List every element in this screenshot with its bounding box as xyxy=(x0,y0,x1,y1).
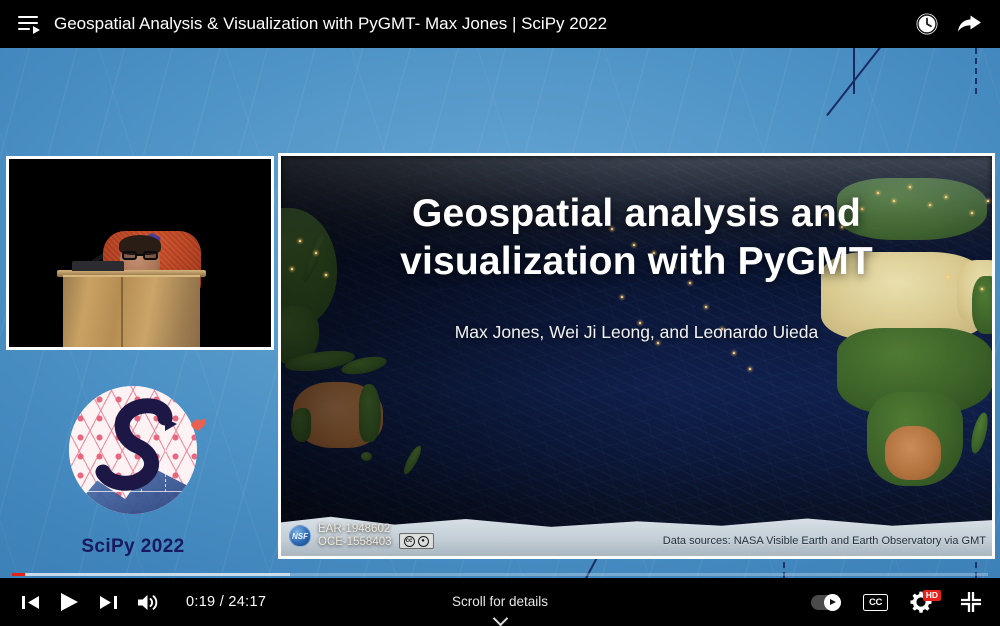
autoplay-toggle[interactable] xyxy=(811,595,841,610)
presentation-slide[interactable]: Geospatial analysis and visualization wi… xyxy=(278,153,995,559)
cc-icon: cc xyxy=(404,536,415,547)
decor-line-diagonal-top xyxy=(826,48,906,116)
autoplay-knob xyxy=(824,594,841,611)
cc-by-icon: ● xyxy=(418,536,429,547)
settings-button[interactable]: HD xyxy=(910,591,938,613)
decor-dashed-line-3 xyxy=(975,48,977,94)
control-bar-right: CC HD xyxy=(811,578,982,626)
logo-snake-s xyxy=(83,398,183,502)
video-stage[interactable]: SciPy 2022 xyxy=(0,48,1000,578)
video-title[interactable]: Geospatial Analysis & Visualization with… xyxy=(54,14,607,34)
decor-line-vertical-short xyxy=(853,48,855,94)
captions-button[interactable]: CC xyxy=(863,594,888,611)
progress-buffered xyxy=(12,573,290,577)
slide-authors: Max Jones, Wei Ji Leong, and Leonardo Ui… xyxy=(281,322,992,343)
logo-bird-icon xyxy=(188,414,208,434)
slide-title: Geospatial analysis and visualization wi… xyxy=(281,190,992,287)
slide-funding-block: NSF EAR-1948602 OCE-1558403 cc ● xyxy=(289,523,434,550)
scipy-logo-caption: SciPy 2022 xyxy=(60,536,206,558)
playlist-queue-icon[interactable] xyxy=(18,15,40,33)
slide-data-sources: Data sources: NASA Visible Earth and Ear… xyxy=(663,535,986,547)
scipy-logo: SciPy 2022 xyxy=(60,386,206,566)
time-display: 0:19 / 24:17 xyxy=(186,594,266,610)
grant-number-1: EAR-1948602 xyxy=(318,523,392,537)
next-button[interactable] xyxy=(99,594,117,611)
share-icon[interactable] xyxy=(957,13,982,35)
hd-quality-badge: HD xyxy=(923,590,941,601)
top-bar-actions xyxy=(915,12,982,36)
video-player: SciPy 2022 xyxy=(0,0,1000,626)
exit-fullscreen-button[interactable] xyxy=(960,591,982,613)
laptop-on-podium xyxy=(72,261,124,271)
podium xyxy=(63,275,200,347)
slide-title-line-2: visualization with PyGMT xyxy=(281,238,992,286)
creative-commons-badge: cc ● xyxy=(399,533,434,549)
player-control-bar: 0:19 / 24:17 Scroll for details CC HD xyxy=(0,578,1000,626)
control-bar-left: 0:19 / 24:17 xyxy=(22,578,266,626)
speaker-camera-feed[interactable] xyxy=(6,156,274,350)
grant-number-2: OCE-1558403 xyxy=(318,536,392,550)
progress-played xyxy=(12,573,25,577)
previous-button[interactable] xyxy=(22,594,40,611)
player-top-bar: Geospatial Analysis & Visualization with… xyxy=(0,0,1000,48)
scipy-logo-circle xyxy=(69,386,197,514)
captions-label: CC xyxy=(869,597,882,608)
speaker-glasses xyxy=(122,251,158,260)
nsf-logo-icon: NSF xyxy=(289,525,311,547)
play-button[interactable] xyxy=(60,592,79,612)
chevron-down-icon[interactable] xyxy=(492,611,508,626)
volume-button[interactable] xyxy=(137,593,160,612)
watch-later-icon[interactable] xyxy=(915,12,939,36)
scroll-hint-label: Scroll for details xyxy=(452,594,548,609)
grant-numbers: EAR-1948602 OCE-1558403 xyxy=(318,523,392,550)
slide-title-line-1: Geospatial analysis and xyxy=(281,190,992,238)
progress-bar[interactable] xyxy=(0,571,1000,578)
